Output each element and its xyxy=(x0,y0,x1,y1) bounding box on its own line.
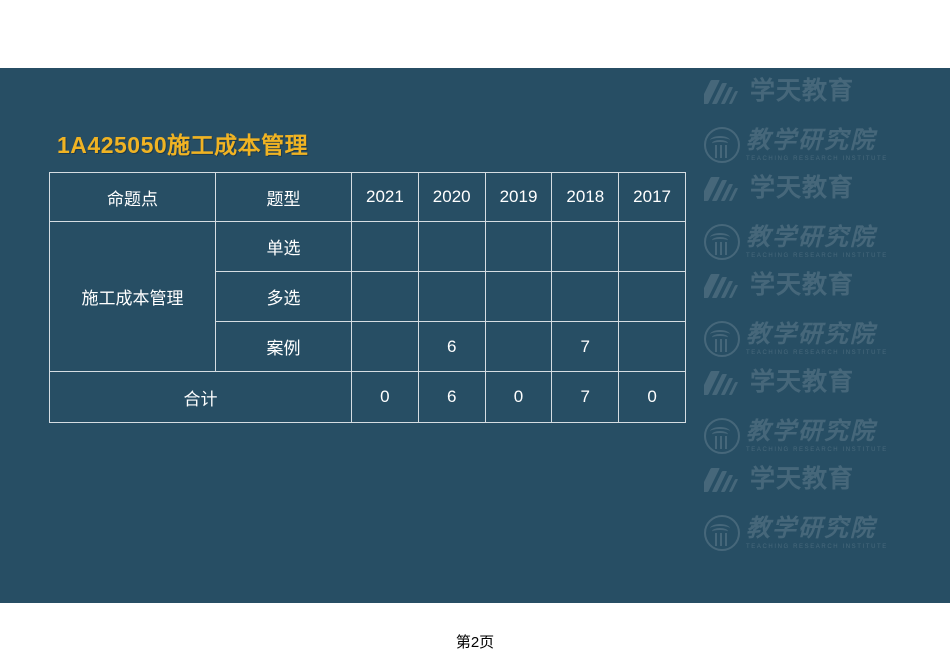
watermark-institute-text: 教学研究院 xyxy=(746,226,876,250)
header-cell-2019: 2019 xyxy=(485,173,552,222)
watermark-institute-subtitle: TEACHING RESEARCH INSTITUTE xyxy=(746,447,888,453)
page-number-footer: 第2页 xyxy=(0,631,950,652)
watermark-institute-text: 教学研究院 xyxy=(746,129,876,153)
watermark-brand: 学天教育 xyxy=(704,369,854,396)
watermark-brand-text: 学天教育 xyxy=(750,79,854,104)
stripes-logo-icon xyxy=(704,272,742,299)
cell-multi-2020 xyxy=(418,272,485,322)
watermark-column: 学天教育 教学研究院 TEACHING RESEARCH INSTITUTE 学… xyxy=(690,68,950,603)
watermark-brand: 学天教育 xyxy=(704,272,854,299)
watermark-institute-text-group: 教学研究院 TEACHING RESEARCH INSTITUTE xyxy=(746,226,888,259)
cell-single-2018 xyxy=(552,222,619,272)
cell-total-label: 合计 xyxy=(50,372,352,423)
stripes-logo-icon xyxy=(704,175,742,202)
pillar-seal-logo-icon xyxy=(704,418,740,454)
cell-single-2017 xyxy=(619,222,686,272)
cell-total-2019: 0 xyxy=(485,372,552,423)
cell-multi-2019 xyxy=(485,272,552,322)
page-title: 1A425050施工成本管理 xyxy=(57,126,308,160)
cell-qtype-single: 单选 xyxy=(216,222,352,272)
slide-canvas: 学天教育 教学研究院 TEACHING RESEARCH INSTITUTE 学… xyxy=(0,68,950,603)
watermark-institute-text-group: 教学研究院 TEACHING RESEARCH INSTITUTE xyxy=(746,420,888,453)
watermark-institute: 教学研究院 TEACHING RESEARCH INSTITUTE xyxy=(704,515,888,551)
cell-multi-2017 xyxy=(619,272,686,322)
stripes-logo-icon xyxy=(704,78,742,105)
cell-case-2019 xyxy=(485,322,552,372)
cell-total-2020: 6 xyxy=(418,372,485,423)
header-cell-qtype: 题型 xyxy=(216,173,352,222)
cell-multi-2021 xyxy=(352,272,419,322)
watermark-brand: 学天教育 xyxy=(704,175,854,202)
watermark-institute: 教学研究院 TEACHING RESEARCH INSTITUTE xyxy=(704,224,888,260)
watermark-institute-subtitle: TEACHING RESEARCH INSTITUTE xyxy=(746,350,888,356)
watermark-institute-text: 教学研究院 xyxy=(746,517,876,541)
watermark-institute-subtitle: TEACHING RESEARCH INSTITUTE xyxy=(746,156,888,162)
watermark-institute-text: 教学研究院 xyxy=(746,323,876,347)
stripes-logo-icon xyxy=(704,466,742,493)
header-cell-2018: 2018 xyxy=(552,173,619,222)
cell-total-2017: 0 xyxy=(619,372,686,423)
watermark-brand-text: 学天教育 xyxy=(750,467,854,492)
watermark-institute-text-group: 教学研究院 TEACHING RESEARCH INSTITUTE xyxy=(746,517,888,550)
cell-case-2018: 7 xyxy=(552,322,619,372)
watermark-institute: 教学研究院 TEACHING RESEARCH INSTITUTE xyxy=(704,418,888,454)
watermark-brand: 学天教育 xyxy=(704,466,854,493)
header-cell-topic: 命题点 xyxy=(50,173,216,222)
watermark-institute-subtitle: TEACHING RESEARCH INSTITUTE xyxy=(746,253,888,259)
watermark-institute-text-group: 教学研究院 TEACHING RESEARCH INSTITUTE xyxy=(746,323,888,356)
header-cell-2021: 2021 xyxy=(352,173,419,222)
header-cell-2017: 2017 xyxy=(619,173,686,222)
watermark-institute-text: 教学研究院 xyxy=(746,420,876,444)
watermark-institute: 教学研究院 TEACHING RESEARCH INSTITUTE xyxy=(704,321,888,357)
table-total-row: 合计 0 6 0 7 0 xyxy=(50,372,686,423)
table-header-row: 命题点 题型 2021 2020 2019 2018 2017 xyxy=(50,173,686,222)
exam-question-matrix-table: 命题点 题型 2021 2020 2019 2018 2017 施工成本管理 单… xyxy=(49,172,686,423)
watermark-institute-text-group: 教学研究院 TEACHING RESEARCH INSTITUTE xyxy=(746,129,888,162)
cell-total-2018: 7 xyxy=(552,372,619,423)
pillar-seal-logo-icon xyxy=(704,127,740,163)
table-row: 施工成本管理 单选 xyxy=(50,222,686,272)
pillar-seal-logo-icon xyxy=(704,224,740,260)
watermark-institute-subtitle: TEACHING RESEARCH INSTITUTE xyxy=(746,544,888,550)
watermark-institute: 教学研究院 TEACHING RESEARCH INSTITUTE xyxy=(704,127,888,163)
cell-case-2020: 6 xyxy=(418,322,485,372)
cell-total-2021: 0 xyxy=(352,372,419,423)
watermark-brand-text: 学天教育 xyxy=(750,370,854,395)
cell-single-2020 xyxy=(418,222,485,272)
cell-case-2021 xyxy=(352,322,419,372)
cell-qtype-case: 案例 xyxy=(216,322,352,372)
pillar-seal-logo-icon xyxy=(704,321,740,357)
watermark-brand: 学天教育 xyxy=(704,78,854,105)
stripes-logo-icon xyxy=(704,369,742,396)
cell-qtype-multi: 多选 xyxy=(216,272,352,322)
watermark-brand-text: 学天教育 xyxy=(750,273,854,298)
cell-single-2019 xyxy=(485,222,552,272)
pillar-seal-logo-icon xyxy=(704,515,740,551)
header-cell-2020: 2020 xyxy=(418,173,485,222)
cell-single-2021 xyxy=(352,222,419,272)
cell-multi-2018 xyxy=(552,272,619,322)
cell-case-2017 xyxy=(619,322,686,372)
cell-topic-name: 施工成本管理 xyxy=(50,222,216,372)
watermark-brand-text: 学天教育 xyxy=(750,176,854,201)
